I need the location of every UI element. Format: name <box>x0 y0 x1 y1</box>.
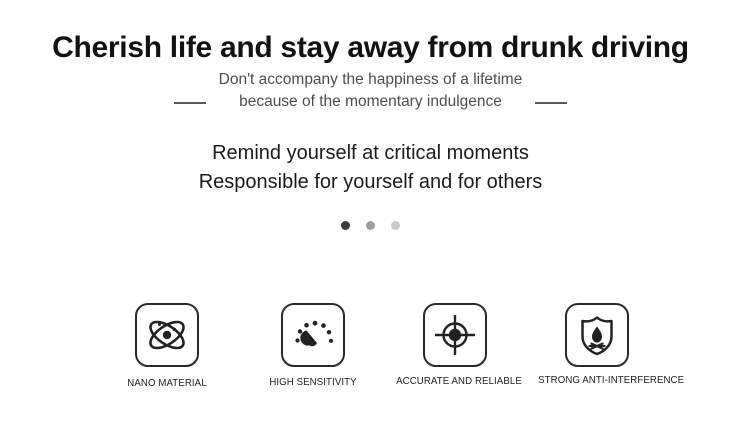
gauge-icon <box>281 303 345 367</box>
slogan-line-2: Responsible for yourself and for others <box>0 168 741 197</box>
slogan-block: Remind yourself at critical moments Resp… <box>0 139 741 197</box>
feature-list: NANO MATERIAL HIGH SEN <box>0 296 741 406</box>
feature-item-anti-interference: STRONG ANTI-INTERFERENCE <box>533 303 661 386</box>
slogan-line-1: Remind yourself at critical moments <box>0 139 741 168</box>
carousel-dot-3[interactable] <box>391 221 400 230</box>
subtitle-block: Don't accompany the happiness of a lifet… <box>0 69 741 113</box>
left-dash-divider <box>174 102 206 104</box>
feature-item-high-sensitivity: HIGH SENSITIVITY <box>249 303 377 388</box>
feature-label-anti-interference: STRONG ANTI-INTERFERENCE <box>538 374 656 386</box>
feature-label-nano-material: NANO MATERIAL <box>108 377 226 389</box>
promo-banner: Cherish life and stay away from drunk dr… <box>0 0 741 431</box>
feature-item-accurate-reliable: ACCURATE AND RELIABLE <box>391 303 519 387</box>
carousel-dot-2[interactable] <box>366 221 375 230</box>
right-dash-divider <box>535 102 567 104</box>
shield-flame-icon <box>565 303 629 367</box>
carousel-indicators[interactable] <box>0 221 741 230</box>
subtitle-line-1: Don't accompany the happiness of a lifet… <box>219 69 523 91</box>
atom-icon <box>135 303 199 367</box>
subtitle-line-2: because of the momentary indulgence <box>219 91 523 113</box>
feature-item-nano-material: NANO MATERIAL <box>103 303 231 389</box>
page-title: Cherish life and stay away from drunk dr… <box>0 31 741 65</box>
feature-label-high-sensitivity: HIGH SENSITIVITY <box>254 376 372 388</box>
feature-label-accurate-reliable: ACCURATE AND RELIABLE <box>396 375 514 387</box>
carousel-dot-1[interactable] <box>341 221 350 230</box>
crosshair-icon <box>423 303 487 367</box>
subtitle-text: Don't accompany the happiness of a lifet… <box>219 69 523 113</box>
